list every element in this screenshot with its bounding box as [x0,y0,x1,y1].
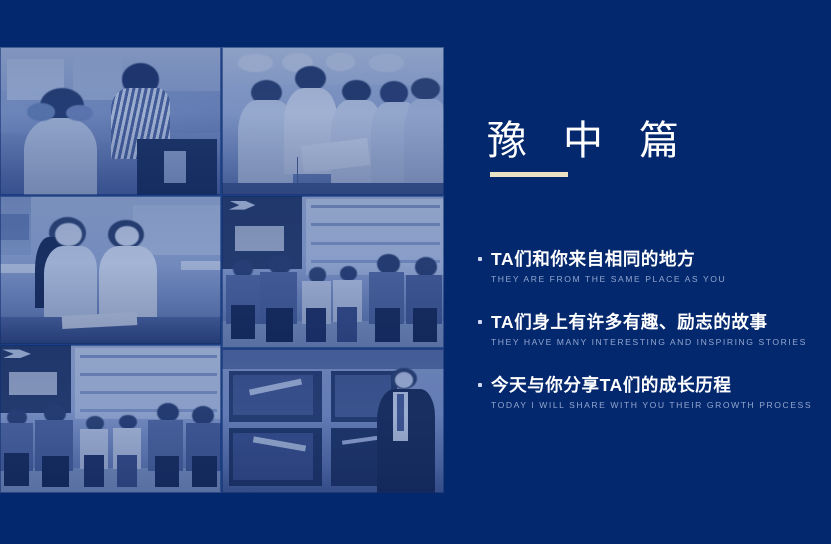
photo-two-students-desk [0,196,221,344]
bullet-2-cn-text: TA们身上有许多有趣、励志的故事 [491,312,768,332]
photo-store-team-lineup-2 [0,345,221,493]
photo-classroom-group-work [222,47,444,195]
bullet-dot-icon [478,383,482,387]
bullet-dot-icon [478,257,482,261]
bullet-1-main-row: TA们和你来自相同的地方 [478,249,831,269]
bullet-dot-icon [478,320,482,324]
bullet-3-en-text: TODAY I WILL SHARE WITH YOU THEIR GROWTH… [491,400,831,410]
photo-collage [0,47,444,493]
page-title: 豫 中 篇 [487,121,692,161]
slide-root: 豫 中 篇 TA们和你来自相同的地方 THEY ARE FROM THE SAM… [0,0,831,544]
bullet-item-1: TA们和你来自相同的地方 THEY ARE FROM THE SAME PLAC… [478,249,831,284]
bullet-1-en-text: THEY ARE FROM THE SAME PLACE AS YOU [491,274,831,284]
bullet-3-main-row: 今天与你分享TA们的成长历程 [478,375,831,395]
bullet-2-en-text: THEY HAVE MANY INTERESTING AND INSPIRING… [491,337,831,347]
bullet-item-3: 今天与你分享TA们的成长历程 TODAY I WILL SHARE WITH Y… [478,375,831,410]
bullet-2-main-row: TA们身上有许多有趣、励志的故事 [478,312,831,332]
photo-aviation-showroom [222,349,444,493]
bullet-item-2: TA们身上有许多有趣、励志的故事 THEY HAVE MANY INTEREST… [478,312,831,347]
photo-store-team-lineup [222,196,444,348]
bullet-1-cn-text: TA们和你来自相同的地方 [491,249,695,269]
photo-office-consultation [0,47,221,195]
text-panel: 豫 中 篇 TA们和你来自相同的地方 THEY ARE FROM THE SAM… [478,0,831,544]
title-underline-rule [490,172,568,177]
bullet-3-cn-text: 今天与你分享TA们的成长历程 [491,375,731,395]
